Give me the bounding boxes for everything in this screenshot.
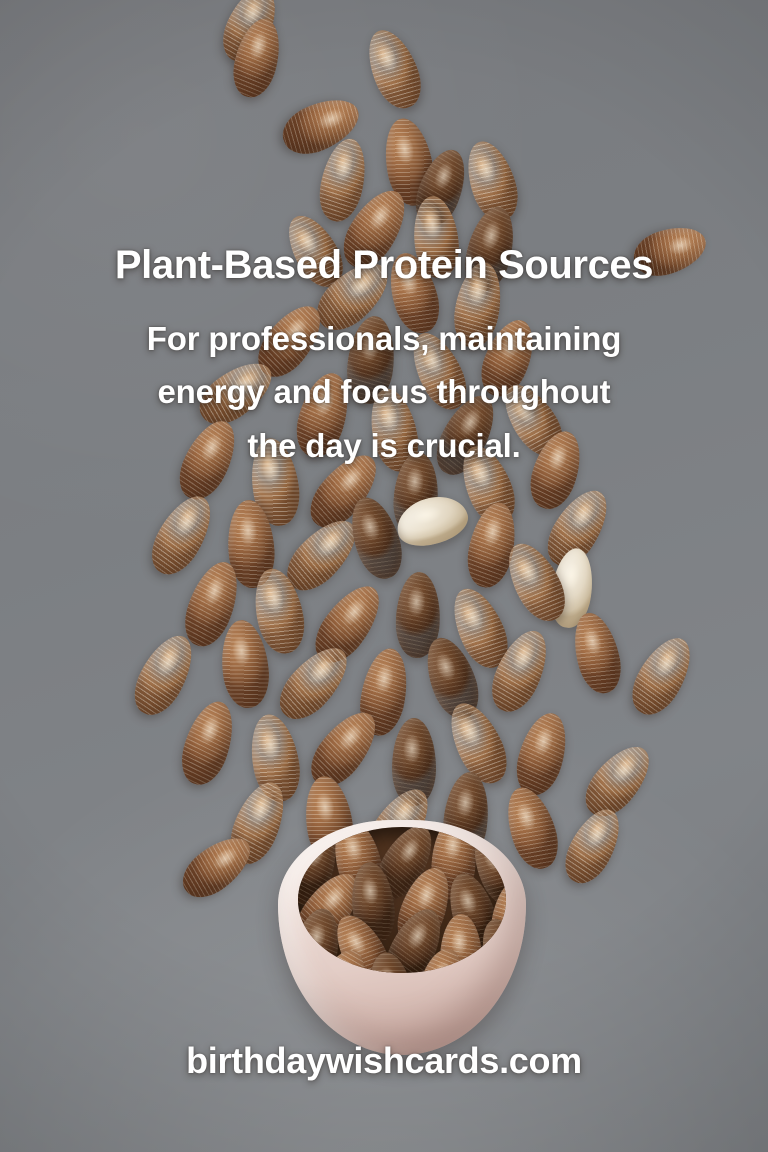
almond-highlight	[407, 587, 426, 617]
almond-highlight	[665, 234, 694, 259]
almond-highlight	[313, 528, 346, 561]
almond-highlight	[514, 800, 540, 833]
almond-highlight	[459, 601, 487, 634]
almond-highlight	[433, 650, 459, 683]
almond-highlight	[374, 42, 401, 74]
almond-highlight	[404, 919, 432, 952]
almond-highlight	[231, 635, 252, 667]
almond-highlight	[247, 31, 270, 61]
almond-highlight	[568, 500, 598, 534]
almond-highlight	[248, 794, 275, 828]
almond-highlight	[481, 516, 504, 548]
almond-highlight	[172, 506, 202, 540]
almond-highlight	[531, 725, 556, 757]
almond-highlight	[397, 266, 422, 298]
almond-highlight	[443, 830, 463, 860]
almond-highlight	[467, 276, 489, 308]
almond-highlight	[514, 555, 543, 588]
bowl-interior	[298, 827, 506, 973]
almond-highlight	[314, 791, 336, 823]
almond-highlight	[562, 561, 582, 590]
almond-highlight	[545, 442, 570, 473]
almond-highlight	[405, 466, 425, 496]
almond-highlight	[312, 385, 338, 418]
almond-highlight	[431, 960, 453, 973]
almond-highlight	[423, 210, 443, 240]
almond-highlight	[360, 331, 381, 363]
almond-highlight	[238, 515, 258, 546]
almond-highlight	[201, 574, 228, 608]
almond-highlight	[377, 965, 398, 973]
almond-highlight	[378, 402, 401, 434]
almond-highlight	[198, 431, 226, 464]
almond-highlight	[455, 787, 476, 819]
almond-highlight	[335, 463, 367, 497]
almond-highlight	[413, 879, 439, 912]
almond-highlight	[360, 876, 380, 905]
almond-highlight	[583, 819, 611, 851]
almond-highlight	[456, 715, 485, 749]
almond-highlight	[455, 886, 479, 917]
almond-highlight	[259, 729, 282, 762]
almond-highlight	[502, 893, 506, 921]
almond-highlight	[305, 921, 328, 952]
almond-highlight	[305, 655, 338, 688]
almond-highlight	[281, 314, 312, 347]
almond-highlight	[403, 734, 421, 764]
almond-highlight	[154, 646, 183, 680]
pinterest-style-image-card: Plant-Based Protein Sources For professi…	[0, 0, 768, 1152]
almond-highlight	[210, 844, 241, 874]
almond-highlight	[652, 647, 682, 681]
almond-highlight	[315, 105, 347, 133]
almond-highlight	[228, 369, 261, 400]
almond-highlight	[581, 626, 604, 657]
almond-highlight	[365, 200, 396, 235]
almond-highlight	[341, 832, 365, 863]
almond-highlight	[393, 133, 416, 166]
almond-highlight	[609, 754, 640, 787]
almond-highlight	[488, 931, 506, 960]
almond-highlight	[479, 220, 503, 253]
almond-highlight	[456, 406, 485, 440]
almond-highlight	[373, 662, 396, 695]
almond-highlight	[303, 839, 327, 870]
almond-highlight	[480, 843, 506, 874]
almond-highlight	[197, 714, 223, 747]
almond-highlight	[358, 510, 384, 543]
almond-highlight	[411, 504, 443, 527]
almond-highlight	[510, 395, 539, 427]
almond-highlight	[498, 330, 524, 362]
almond-highlight	[395, 835, 423, 867]
almond-highlight	[468, 458, 495, 490]
almond-highlight	[335, 721, 367, 755]
almond-highlight	[260, 453, 282, 485]
almond-highlight	[418, 344, 445, 376]
almond-highlight	[333, 152, 355, 183]
almond-highlight	[262, 583, 286, 615]
almond-highlight	[338, 595, 370, 630]
almond-highlight	[294, 226, 322, 257]
almond-highlight	[474, 154, 499, 186]
almond-highlight	[331, 960, 356, 973]
almond-highlight	[431, 160, 456, 191]
almond-highlight	[344, 270, 378, 303]
almond-highlight	[510, 642, 538, 676]
